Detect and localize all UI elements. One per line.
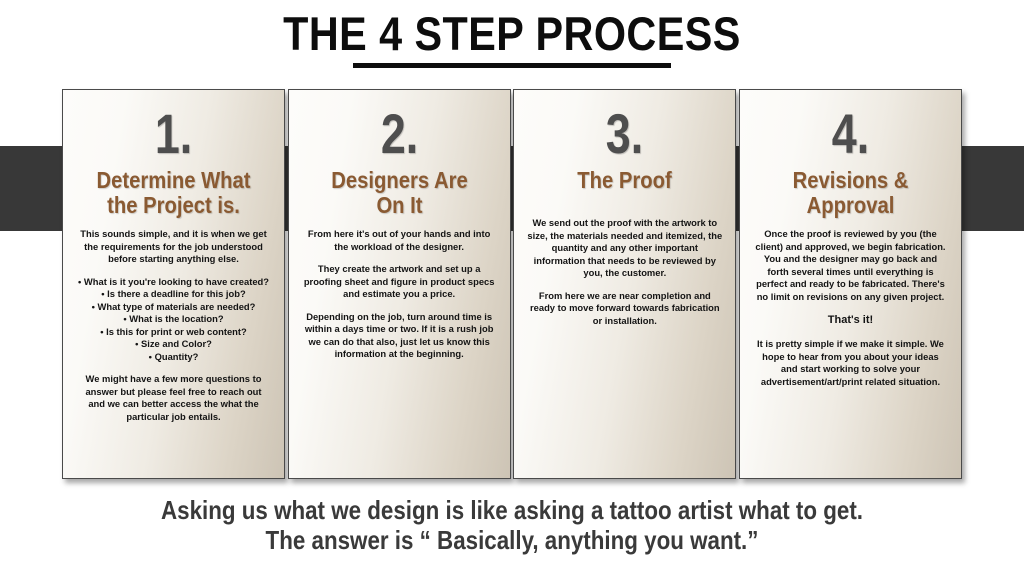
step-body-3: We send out the proof with the artwork t…	[524, 203, 725, 327]
step-heading-4: Revisions & Approval	[762, 168, 939, 218]
list-item: Is this for print or web content?	[76, 326, 271, 339]
step-4-paragraph-1: Once the proof is reviewed by you (the c…	[753, 228, 948, 303]
footer-tagline: Asking us what we design is like asking …	[0, 495, 1024, 555]
step-3-paragraph-2: From here we are near completion and rea…	[527, 290, 722, 328]
title-area: THE 4 STEP PROCESS	[0, 8, 1024, 68]
step-3-paragraph-1: We send out the proof with the artwork t…	[527, 217, 722, 280]
list-item: Quantity?	[76, 351, 271, 364]
step-2-paragraph-3: Depending on the job, turn around time i…	[302, 311, 497, 361]
step-heading-1: Determine What the Project is.	[85, 168, 262, 218]
step-4-closing-title: That's it!	[753, 313, 948, 328]
list-item: What is the location?	[76, 313, 271, 326]
footer-line-2: The answer is “ Basically, anything you …	[72, 525, 953, 555]
step-4-closing-body: It is pretty simple if we make it simple…	[753, 338, 948, 388]
infographic-poster: THE 4 STEP PROCESS 1. Determine What the…	[0, 0, 1024, 579]
page-title: THE 4 STEP PROCESS	[61, 8, 962, 60]
list-item: What is it you're looking to have create…	[76, 276, 271, 289]
step-card-2[interactable]: 2. Designers Are On It From here it's ou…	[288, 89, 511, 479]
step-2-paragraph-2: They create the artwork and set up a pro…	[302, 263, 497, 301]
list-item: Is there a deadline for this job?	[76, 288, 271, 301]
step-body-2: From here it's out of your hands and int…	[299, 228, 500, 361]
step-number-3: 3.	[544, 106, 705, 162]
list-item: What type of materials are needed?	[76, 301, 271, 314]
step-card-3[interactable]: 3. The Proof We send out the proof with …	[513, 89, 736, 479]
step-number-2: 2.	[319, 106, 480, 162]
footer-line-1: Asking us what we design is like asking …	[72, 495, 953, 525]
step-1-question-list: What is it you're looking to have create…	[76, 276, 271, 364]
step-1-intro-paragraph: This sounds simple, and it is when we ge…	[76, 228, 271, 266]
title-underline-rule	[353, 63, 671, 68]
list-item: Size and Color?	[76, 338, 271, 351]
step-2-paragraph-1: From here it's out of your hands and int…	[302, 228, 497, 253]
step-body-4: Once the proof is reviewed by you (the c…	[750, 228, 951, 388]
step-body-1: This sounds simple, and it is when we ge…	[73, 228, 274, 423]
steps-row: 1. Determine What the Project is. This s…	[0, 89, 1024, 481]
step-card-1[interactable]: 1. Determine What the Project is. This s…	[62, 89, 285, 479]
step-1-outro-paragraph: We might have a few more questions to an…	[76, 373, 271, 423]
step-heading-2: Designers Are On It	[311, 168, 488, 218]
step-card-4[interactable]: 4. Revisions & Approval Once the proof i…	[739, 89, 962, 479]
step-number-1: 1.	[93, 106, 254, 162]
step-heading-3: The Proof	[536, 168, 713, 193]
step-number-4: 4.	[770, 106, 931, 162]
